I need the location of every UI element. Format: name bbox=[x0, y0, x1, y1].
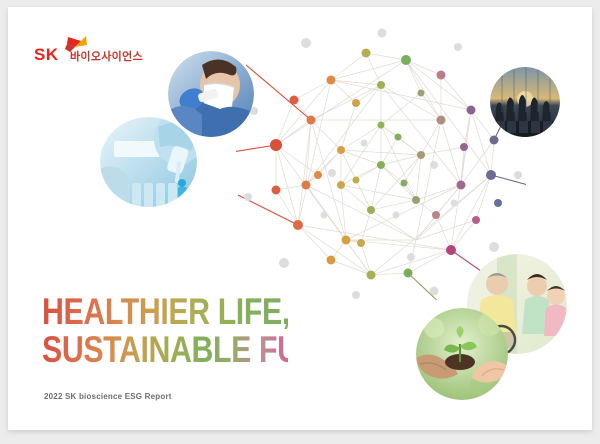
svg-text:SK: SK bbox=[34, 45, 59, 64]
report-subtitle: 2022 SK bioscience ESG Report bbox=[44, 392, 172, 401]
esg-network-graph bbox=[236, 25, 526, 300]
photo-seedling bbox=[416, 308, 508, 400]
photo-business bbox=[490, 67, 560, 137]
report-cover: SK 바이오사이언스 bbox=[8, 7, 592, 430]
photo-lab bbox=[100, 117, 197, 207]
headline-line-1: HEALTHIER LIFE, bbox=[42, 294, 288, 329]
sk-bioscience-logo: SK 바이오사이언스 bbox=[34, 35, 146, 65]
network-edges bbox=[276, 53, 494, 275]
headline-line-2: SUSTAINABLE FUTURE bbox=[42, 332, 288, 367]
svg-text:바이오사이언스: 바이오사이언스 bbox=[70, 49, 143, 63]
photo-vaccination bbox=[168, 51, 254, 137]
page-title: HEALTHIER LIFE, SUSTAINABLE FUTURE bbox=[42, 294, 342, 370]
